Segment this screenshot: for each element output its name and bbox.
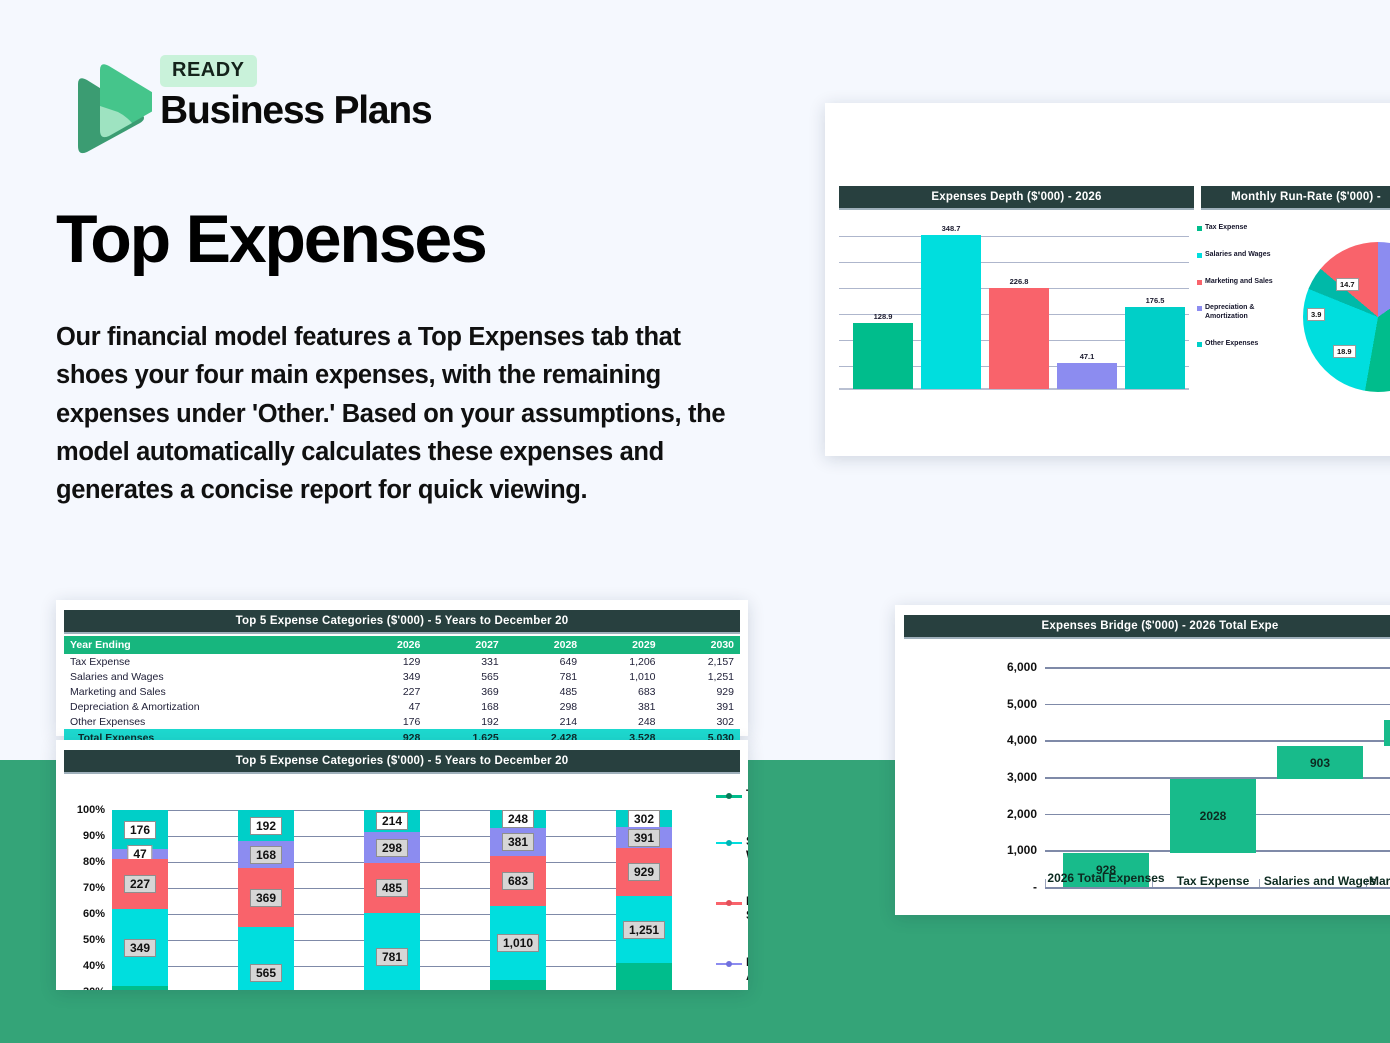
- cell: 176: [354, 714, 426, 729]
- legend-item: Depreciation & Amortization: [1197, 304, 1293, 322]
- cell: 1,010: [583, 669, 661, 684]
- runrate-chart-title: Monthly Run-Rate ($'000) -: [1201, 186, 1390, 210]
- legend-label: Tax Expense: [746, 788, 748, 802]
- y-tick: 60%: [83, 908, 105, 920]
- cell: 248: [583, 714, 661, 729]
- pie-slice-label-marketing: 14.7: [1336, 278, 1359, 291]
- y-tick: 30%: [83, 986, 105, 990]
- legend-label: Depreciation & Amortization: [746, 956, 748, 984]
- cell: 1,251: [662, 669, 740, 684]
- legend-swatch-icon: [1197, 253, 1202, 258]
- column-header-year-ending: Year Ending: [64, 636, 354, 654]
- y-tick: -: [1033, 880, 1037, 894]
- y-tick: 3,000: [1007, 770, 1037, 784]
- cell: 781: [505, 669, 583, 684]
- legend-item: Marketing and Sales: [716, 895, 748, 923]
- stacked-column-2030: 302 391 929 1,251: [616, 810, 672, 990]
- segment-value: 369: [250, 889, 282, 907]
- row-label: Salaries and Wages: [64, 669, 354, 684]
- y-tick: 1,000: [1007, 843, 1037, 857]
- legend-line-marker-icon: [716, 898, 742, 908]
- bar-value: 903: [1310, 756, 1330, 770]
- bar-value-label: 47.1: [1080, 352, 1095, 361]
- row-label: Depreciation & Amortization: [64, 699, 354, 714]
- segment-marketing: 227: [112, 859, 168, 909]
- column-header-2030: 2030: [662, 636, 740, 654]
- title-divider: [1194, 186, 1201, 210]
- expenses-bridge-waterfall-chart: 6,000 5,000 4,000 3,000 2,000 1,000 - 92…: [1045, 667, 1390, 887]
- segment-value: 1,010: [497, 934, 539, 952]
- legend-item: Tax Expense: [716, 788, 748, 802]
- segment-marketing: 683: [490, 856, 546, 906]
- y-tick: 50%: [83, 934, 105, 946]
- legend-label: Marketing and Sales: [1205, 278, 1273, 287]
- brand-wordmark: READY Business Plans: [160, 55, 432, 132]
- segment-value: 248: [502, 810, 534, 828]
- legend-item: Depreciation & Amortization: [716, 956, 748, 984]
- waterfall-bar-total-2026: 928 2026 Total Expenses: [1063, 853, 1149, 887]
- legend-label: Other Expenses: [1205, 340, 1258, 349]
- bar-tax-expense: 128.9: [853, 323, 913, 389]
- segment-value: 683: [502, 872, 534, 890]
- row-label: Marketing and Sales: [64, 684, 354, 699]
- segment-value: 349: [124, 939, 156, 957]
- cell: 302: [662, 714, 740, 729]
- bar-value-label: 226.8: [1010, 277, 1029, 286]
- cell: 369: [426, 684, 504, 699]
- segment-depreciation: 168: [238, 841, 294, 868]
- segment-tax: [490, 980, 546, 990]
- segment-marketing: 929: [616, 848, 672, 896]
- stacked-column-2029: 248 381 683 1,010: [490, 810, 546, 990]
- segment-value: 1,251: [623, 921, 665, 939]
- table-row: Tax Expense 129 331 649 1,206 2,157: [64, 654, 740, 669]
- segment-other-expenses: 248: [490, 810, 546, 828]
- segment-tax: [112, 986, 168, 990]
- column-header-2029: 2029: [583, 636, 661, 654]
- y-tick: 5,000: [1007, 697, 1037, 711]
- y-tick: 2,000: [1007, 807, 1037, 821]
- bridge-chart-title: Expenses Bridge ($'000) - 2026 Total Exp…: [904, 615, 1390, 639]
- table-row: Marketing and Sales 227 369 485 683 929: [64, 684, 740, 699]
- legend-swatch-icon: [1197, 306, 1202, 311]
- cell: 192: [426, 714, 504, 729]
- brand-name: Business Plans: [160, 91, 432, 132]
- x-tick-label: 2026 Total Expenses: [1047, 871, 1164, 885]
- stacked-column-2028: 214 298 485 781: [364, 810, 420, 990]
- segment-salaries: 781: [364, 913, 420, 990]
- x-tick-label: Marketing and Sales: [1369, 874, 1390, 888]
- column-header-2027: 2027: [426, 636, 504, 654]
- segment-salaries: 1,251: [616, 896, 672, 963]
- bar-other-expenses: 176.5: [1125, 307, 1185, 389]
- pie-slice-label-salaries: 18.9: [1333, 345, 1356, 358]
- segment-value: 485: [376, 879, 408, 897]
- legend-item: Marketing and Sales: [1197, 278, 1293, 287]
- segment-salaries: 1,010: [490, 906, 546, 980]
- waterfall-bar-marketing-and-sales: 702 Marketing and Sales: [1384, 720, 1390, 746]
- table-row: Depreciation & Amortization 47 168 298 3…: [64, 699, 740, 714]
- table-row: Salaries and Wages 349 565 781 1,010 1,2…: [64, 669, 740, 684]
- legend-swatch-icon: [1197, 280, 1202, 285]
- cell: 391: [662, 699, 740, 714]
- stacked-chart-legend: Tax Expense Salaries and Wages Marketing…: [716, 788, 748, 990]
- y-tick: 90%: [83, 830, 105, 842]
- y-tick: 100%: [77, 804, 105, 816]
- legend-item: Salaries and Wages: [1197, 251, 1293, 260]
- segment-value: 227: [124, 875, 156, 893]
- segment-value: 565: [250, 964, 282, 982]
- cell: 331: [426, 654, 504, 669]
- depth-chart-legend: Tax Expense Salaries and Wages Marketing…: [1197, 224, 1293, 367]
- expenses-depth-bar-chart: 128.9 348.7 226.8 47.1 176.5: [839, 228, 1189, 398]
- bar-value-label: 348.7: [942, 224, 961, 233]
- cell: 649: [505, 654, 583, 669]
- stacked-bar-chart: 100% 90% 80% 70% 60% 50% 40% 30% 176 47 …: [112, 810, 672, 990]
- legend-line-marker-icon: [716, 791, 742, 801]
- cell: 349: [354, 669, 426, 684]
- waterfall-bar-tax-expense: 2028 Tax Expense: [1170, 779, 1256, 853]
- bar-value-label: 128.9: [874, 312, 893, 321]
- cell: 298: [505, 699, 583, 714]
- stacked-column-2026: 176 47 227 349: [112, 810, 168, 990]
- cell: 1,206: [583, 654, 661, 669]
- cell: 129: [354, 654, 426, 669]
- top-expense-categories-table-card: Top 5 Expense Categories ($'000) - 5 Yea…: [56, 600, 748, 736]
- segment-value: 302: [628, 810, 660, 828]
- play-triangles-logo-icon: [56, 58, 152, 158]
- y-tick: 80%: [83, 856, 105, 868]
- column-header-2028: 2028: [505, 636, 583, 654]
- slide-canvas: READY Business Plans Top Expenses Our fi…: [0, 0, 1390, 1043]
- cell: 683: [583, 684, 661, 699]
- segment-value: 298: [376, 839, 408, 857]
- pie-slice-label-other: 3.9: [1307, 308, 1325, 321]
- segment-depreciation: 298: [364, 832, 420, 863]
- legend-swatch-icon: [1197, 226, 1202, 231]
- legend-item: Other Expenses: [1197, 340, 1293, 349]
- ready-badge: READY: [160, 55, 257, 87]
- column-header-2026: 2026: [354, 636, 426, 654]
- table-header-row: Year Ending 2026 2027 2028 2029 2030: [64, 636, 740, 654]
- legend-item: Salaries and Wages: [716, 835, 748, 863]
- stacked-column-2027: 192 168 369 565: [238, 810, 294, 990]
- cell: 2,157: [662, 654, 740, 669]
- hero-description: Our financial model features a Top Expen…: [56, 318, 756, 509]
- legend-line-marker-icon: [716, 959, 742, 969]
- legend-line-marker-icon: [716, 838, 742, 848]
- segment-depreciation: 47: [112, 849, 168, 859]
- segment-value: 391: [628, 829, 660, 847]
- cell: 227: [354, 684, 426, 699]
- monthly-run-rate-pie-chart: 10.7 14.7 3.9 18.9: [1303, 242, 1390, 392]
- segment-marketing: 369: [238, 868, 294, 927]
- segment-value: 192: [250, 817, 282, 835]
- expense-categories-table: Year Ending 2026 2027 2028 2029 2030 Tax…: [64, 636, 740, 747]
- page-title: Top Expenses: [56, 205, 486, 273]
- cell: 168: [426, 699, 504, 714]
- depth-card-title-row: Expenses Depth ($'000) - 2026 Monthly Ru…: [839, 186, 1390, 210]
- cell: 929: [662, 684, 740, 699]
- legend-item: Tax Expense: [1197, 224, 1293, 233]
- legend-label: Depreciation & Amortization: [1205, 304, 1293, 322]
- bar-value: 2028: [1200, 809, 1227, 823]
- expense-mix-stacked-chart-card: Top 5 Expense Categories ($'000) - 5 Yea…: [56, 740, 748, 990]
- segment-value: 781: [376, 948, 408, 966]
- depth-chart-title: Expenses Depth ($'000) - 2026: [839, 186, 1194, 210]
- y-tick: 6,000: [1007, 660, 1037, 674]
- segment-value: 381: [502, 833, 534, 851]
- segment-value: 929: [628, 863, 660, 881]
- segment-salaries: 349: [112, 909, 168, 986]
- bar-value-label: 176.5: [1146, 296, 1165, 305]
- y-tick: 4,000: [1007, 733, 1037, 747]
- row-label: Other Expenses: [64, 714, 354, 729]
- segment-value: 214: [376, 812, 408, 830]
- cell: 381: [583, 699, 661, 714]
- table-title: Top 5 Expense Categories ($'000) - 5 Yea…: [64, 610, 740, 634]
- segment-other-expenses: 302: [616, 810, 672, 827]
- legend-label: Tax Expense: [1205, 224, 1247, 233]
- segment-other-expenses: 214: [364, 810, 420, 832]
- cell: 214: [505, 714, 583, 729]
- waterfall-bar-salaries-and-wages: 903 Salaries and Wages: [1277, 746, 1363, 779]
- row-label: Tax Expense: [64, 654, 354, 669]
- segment-depreciation: 391: [616, 827, 672, 848]
- cell: 485: [505, 684, 583, 699]
- x-tick-label: Salaries and Wages: [1264, 874, 1376, 888]
- segment-other-expenses: 176: [112, 810, 168, 849]
- segment-value: 168: [250, 846, 282, 864]
- legend-label: Marketing and Sales: [746, 895, 748, 923]
- brand-logo-block: READY Business Plans: [56, 55, 476, 160]
- bar-salaries-and-wages: 348.7: [921, 235, 981, 389]
- legend-swatch-icon: [1197, 342, 1202, 347]
- segment-marketing: 485: [364, 863, 420, 913]
- bar-depreciation-amortization: 47.1: [1057, 363, 1117, 389]
- segment-value: 176: [124, 821, 156, 839]
- y-tick: 40%: [83, 960, 105, 972]
- segment-other-expenses: 192: [238, 810, 294, 841]
- cell: 47: [354, 699, 426, 714]
- legend-label: Salaries and Wages: [746, 835, 748, 863]
- expenses-bridge-card: Expenses Bridge ($'000) - 2026 Total Exp…: [895, 605, 1390, 915]
- stacked-chart-title: Top 5 Expense Categories ($'000) - 5 Yea…: [64, 750, 740, 774]
- depth-card-body: 128.9 348.7 226.8 47.1 176.5: [825, 220, 1390, 405]
- segment-depreciation: 381: [490, 828, 546, 856]
- segment-tax: [616, 963, 672, 990]
- legend-label: Salaries and Wages: [1205, 251, 1271, 260]
- table-row: Other Expenses 176 192 214 248 302: [64, 714, 740, 729]
- segment-salaries: 565: [238, 927, 294, 990]
- x-tick-label: Tax Expense: [1177, 874, 1249, 888]
- cell: 565: [426, 669, 504, 684]
- bar-marketing-and-sales: 226.8: [989, 288, 1049, 389]
- y-tick: 70%: [83, 882, 105, 894]
- expenses-depth-card: Expenses Depth ($'000) - 2026 Monthly Ru…: [825, 103, 1390, 456]
